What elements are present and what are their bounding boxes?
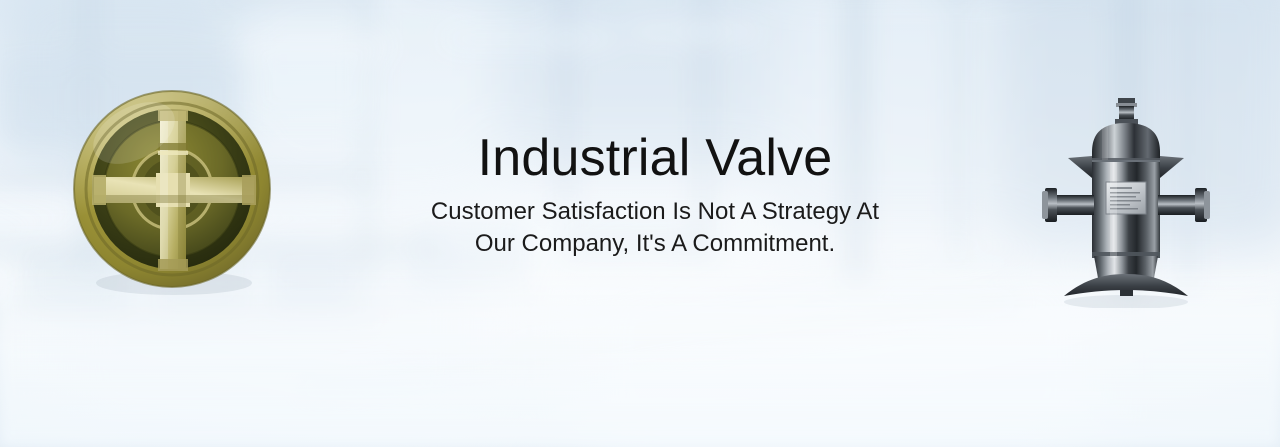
tagline-line-2: Our Company, It's A Commitment.: [330, 228, 980, 260]
tagline-line-1: Customer Satisfaction Is Not A Strategy …: [330, 196, 980, 228]
banner-text-block: Industrial Valve Customer Satisfaction I…: [330, 128, 980, 260]
separator-inlet-nozzle: [1042, 188, 1094, 222]
industrial-valve-banner: Industrial Valve Customer Satisfaction I…: [0, 0, 1280, 447]
page-title: Industrial Valve: [330, 128, 980, 188]
product-image-check-valve: [68, 83, 278, 297]
separator-vent: [1115, 98, 1138, 125]
product-image-air-separator: [1036, 96, 1216, 308]
separator-outlet-nozzle: [1158, 188, 1210, 222]
banner-tagline: Customer Satisfaction Is Not A Strategy …: [330, 196, 980, 260]
